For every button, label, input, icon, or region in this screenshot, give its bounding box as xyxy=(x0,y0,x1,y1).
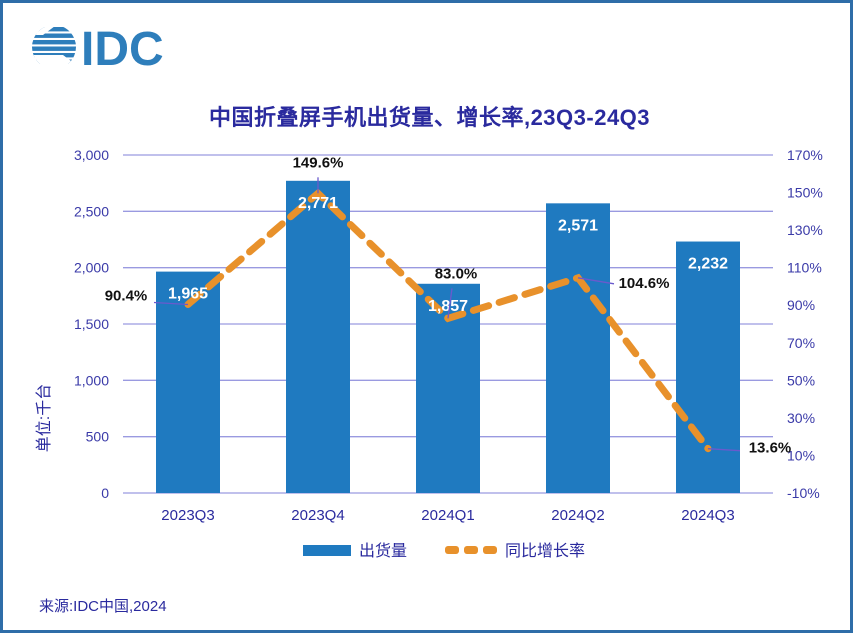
bar-value-label: 2,771 xyxy=(298,195,338,212)
y-axis-left-tick: 1,500 xyxy=(74,316,109,332)
y-axis-right-tick: 130% xyxy=(787,222,823,238)
growth-value-label: 90.4% xyxy=(105,287,148,304)
bar xyxy=(676,242,740,493)
x-axis-label: 2024Q3 xyxy=(681,507,734,524)
bar-value-label: 2,571 xyxy=(558,217,598,234)
x-axis-label: 2024Q1 xyxy=(421,507,474,524)
globe-icon xyxy=(29,23,83,67)
x-axis-labels: 2023Q32023Q42024Q12024Q22024Q3 xyxy=(161,507,734,524)
bar xyxy=(286,181,350,493)
bar-value-label: 1,857 xyxy=(428,298,468,315)
bar-value-label: 2,232 xyxy=(688,256,728,273)
y-axis-left-tick: 2,000 xyxy=(74,260,109,276)
bar xyxy=(546,203,610,493)
y-axis-right-ticks: -10%10%30%50%70%90%110%130%150%170% xyxy=(787,147,823,501)
y-axis-left-tick: 2,500 xyxy=(74,203,109,219)
y-axis-right-tick: 110% xyxy=(787,260,822,276)
idc-logo: IDC xyxy=(29,19,189,75)
idc-logo-svg: IDC xyxy=(29,19,189,75)
y-axis-right-tick: 170% xyxy=(787,147,823,163)
y-axis-right-tick: 70% xyxy=(787,335,815,351)
y-axis-right-tick: 90% xyxy=(787,297,815,313)
growth-value-label: 83.0% xyxy=(435,265,478,282)
y-axis-right-tick: 150% xyxy=(787,185,823,201)
y-axis-left-ticks: 05001,0001,5002,0002,5003,000 xyxy=(74,147,109,501)
legend-label-growth: 同比增长率 xyxy=(505,542,585,560)
chart-legend: 出货量 同比增长率 xyxy=(303,542,585,560)
bar-series xyxy=(156,181,740,493)
source-note: 来源:IDC中国,2024 xyxy=(39,595,167,616)
chart-card: IDC 中国折叠屏手机出货量、增长率,23Q3-24Q3 05001,0001,… xyxy=(0,0,853,633)
y-axis-left-tick: 1,000 xyxy=(74,372,109,388)
x-axis-label: 2023Q3 xyxy=(161,507,214,524)
y-axis-left-tick: 500 xyxy=(86,429,110,445)
growth-value-label: 104.6% xyxy=(619,275,670,292)
idc-wordmark: IDC xyxy=(81,23,164,75)
legend-marker-bar xyxy=(303,545,351,556)
x-axis-label: 2024Q2 xyxy=(551,507,604,524)
y-axis-left-tick: 3,000 xyxy=(74,147,109,163)
chart-canvas: 05001,0001,5002,0002,5003,000 -10%10%30%… xyxy=(3,133,853,573)
y-axis-left-tick: 0 xyxy=(101,485,109,501)
y-axis-right-tick: 50% xyxy=(787,372,815,388)
bar-value-label: 1,965 xyxy=(168,286,208,303)
y-axis-right-tick: -10% xyxy=(787,485,820,501)
growth-value-label: 13.6% xyxy=(749,440,792,457)
y-axis-right-tick: 30% xyxy=(787,410,815,426)
legend-marker-line xyxy=(445,546,497,554)
page-title: 中国折叠屏手机出货量、增长率,23Q3-24Q3 xyxy=(3,100,853,132)
legend-label-shipments: 出货量 xyxy=(359,542,407,560)
growth-value-label: 149.6% xyxy=(293,154,344,171)
bar-value-labels: 1,9652,7711,8572,5712,232 xyxy=(168,195,728,315)
x-axis-label: 2023Q4 xyxy=(291,507,344,524)
y-axis-title: 单位:千台 xyxy=(35,384,53,452)
